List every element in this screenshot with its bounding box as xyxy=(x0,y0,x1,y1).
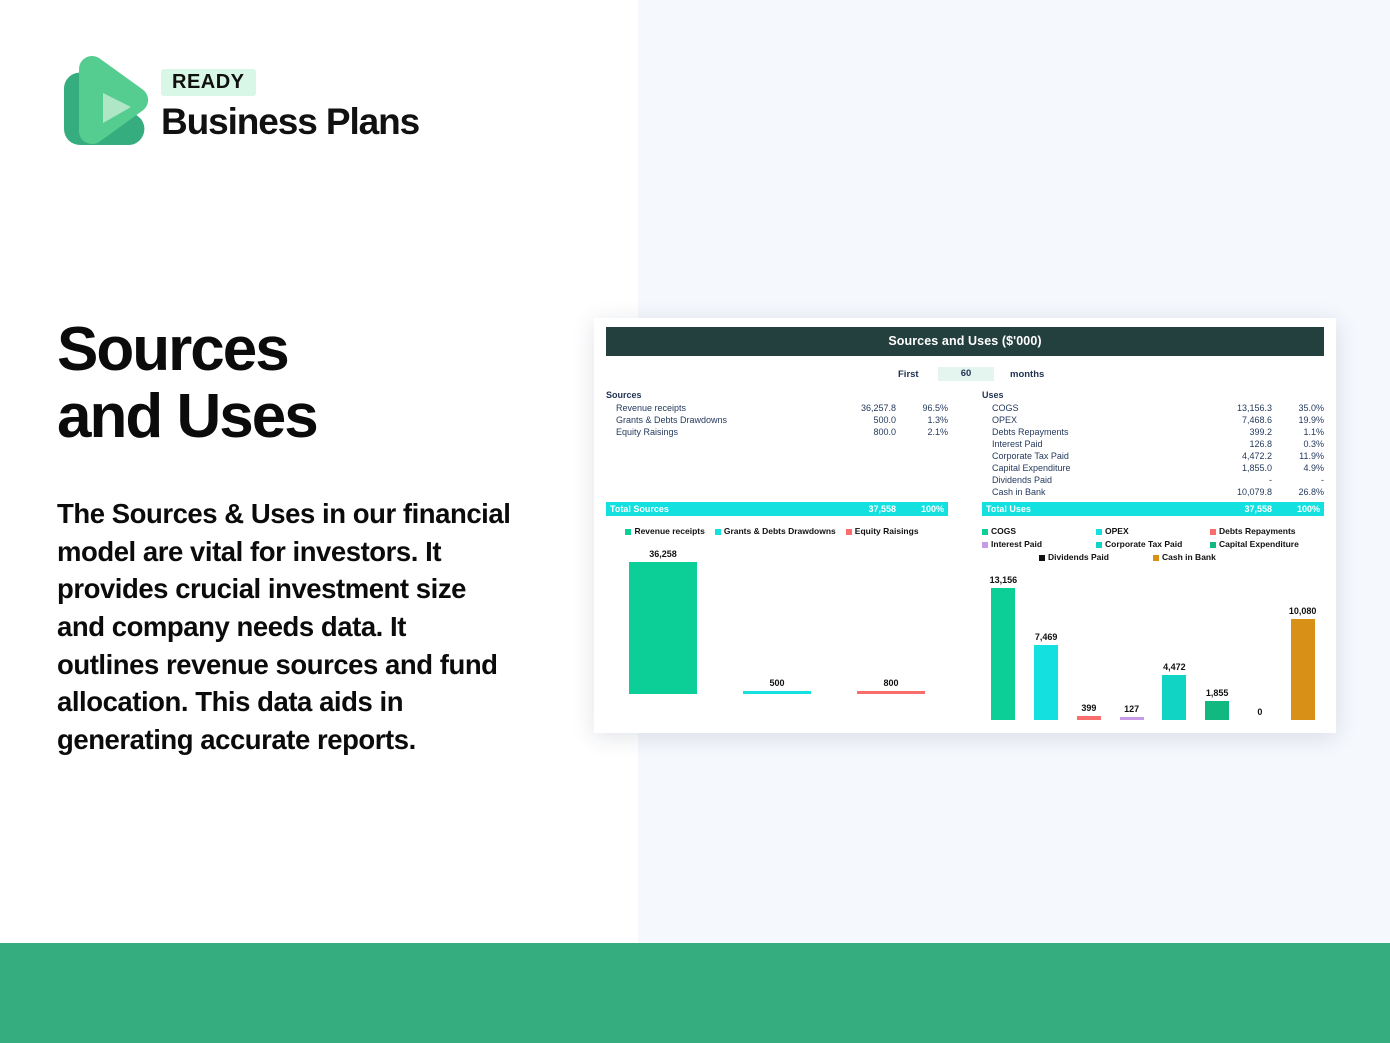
table-row: COGS 13,156.3 35.0% xyxy=(982,402,1324,414)
row-label: Capital Expenditure xyxy=(982,462,1194,474)
legend-swatch-icon xyxy=(982,542,988,548)
legend-item: Cash in Bank xyxy=(1153,551,1267,564)
bar[interactable] xyxy=(991,588,1015,720)
bar-value-label: 1,855 xyxy=(1206,688,1229,698)
page-title-line-1: Sources xyxy=(57,315,288,384)
legend-swatch-icon xyxy=(846,529,852,535)
bar[interactable] xyxy=(743,691,811,694)
bar[interactable] xyxy=(1120,717,1144,720)
brand-logo: READY Business Plans xyxy=(57,55,419,155)
bar-group: 4,472 xyxy=(1162,662,1186,720)
row-percent: 0.3% xyxy=(1272,438,1324,450)
row-value: 4,472.2 xyxy=(1194,450,1272,462)
charts-area: Revenue receiptsGrants & Debts Drawdowns… xyxy=(606,525,1324,720)
table-row: Corporate Tax Paid 4,472.2 11.9% xyxy=(982,450,1324,462)
table-spacer xyxy=(606,462,948,474)
table-row: Interest Paid 126.8 0.3% xyxy=(982,438,1324,450)
brand-name: Business Plans xyxy=(161,102,419,142)
row-label: Grants & Debts Drawdowns xyxy=(606,414,818,426)
row-label: OPEX xyxy=(982,414,1194,426)
row-percent: 19.9% xyxy=(1272,414,1324,426)
bar-group: 10,080 xyxy=(1291,606,1315,720)
legend-label: Debts Repayments xyxy=(1219,525,1296,538)
bar-group: 1,855 xyxy=(1205,688,1229,720)
bar-value-label: 0 xyxy=(1257,707,1262,717)
legend-swatch-icon xyxy=(1039,555,1045,561)
sources-and-uses-tables: Sources Revenue receipts 36,257.8 96.5% … xyxy=(606,390,1324,516)
bar-group: 399 xyxy=(1077,703,1101,720)
bar[interactable] xyxy=(1034,645,1058,720)
row-label: Dividends Paid xyxy=(982,474,1194,486)
legend-swatch-icon xyxy=(625,529,631,535)
row-value: 36,257.8 xyxy=(818,402,896,414)
row-value: 399.2 xyxy=(1194,426,1272,438)
uses-bar-chart: COGSOPEXDebts RepaymentsInterest PaidCor… xyxy=(982,525,1324,720)
row-value: 13,156.3 xyxy=(1194,402,1272,414)
row-label: Cash in Bank xyxy=(982,486,1194,498)
legend-label: Equity Raisings xyxy=(855,525,919,538)
legend-swatch-icon xyxy=(715,529,721,535)
legend-label: Cash in Bank xyxy=(1162,551,1216,564)
row-label: Debts Repayments xyxy=(982,426,1194,438)
legend-label: Interest Paid xyxy=(991,538,1042,551)
uses-chart-legend: COGSOPEXDebts RepaymentsInterest PaidCor… xyxy=(982,525,1324,564)
bar-value-label: 7,469 xyxy=(1035,632,1058,642)
bar[interactable] xyxy=(629,562,697,694)
table-spacer xyxy=(606,450,948,462)
legend-item: Corporate Tax Paid xyxy=(1096,538,1210,551)
legend-label: OPEX xyxy=(1105,525,1129,538)
total-label: Total Sources xyxy=(606,502,818,516)
bar-group: 800 xyxy=(857,678,925,694)
row-percent: 2.1% xyxy=(896,426,948,438)
sources-bar-chart: Revenue receiptsGrants & Debts Drawdowns… xyxy=(606,525,948,720)
legend-swatch-icon xyxy=(1210,529,1216,535)
row-label: Corporate Tax Paid xyxy=(982,450,1194,462)
bar-group: 13,156 xyxy=(991,575,1015,720)
bar-value-label: 13,156 xyxy=(990,575,1018,585)
legend-swatch-icon xyxy=(1096,529,1102,535)
legend-item: Interest Paid xyxy=(982,538,1096,551)
row-percent: 26.8% xyxy=(1272,486,1324,498)
total-label: Total Uses xyxy=(982,502,1194,516)
row-label: Equity Raisings xyxy=(606,426,818,438)
row-value: 800.0 xyxy=(818,426,896,438)
bar-value-label: 36,258 xyxy=(649,549,677,559)
row-value: 500.0 xyxy=(818,414,896,426)
legend-swatch-icon xyxy=(1210,542,1216,548)
legend-label: Revenue receipts xyxy=(634,525,704,538)
table-row: Debts Repayments 399.2 1.1% xyxy=(982,426,1324,438)
bar[interactable] xyxy=(1291,619,1315,720)
uses-chart-plot: 13,1567,4693991274,4721,855010,080 xyxy=(982,570,1324,720)
row-percent: 4.9% xyxy=(1272,462,1324,474)
table-row: Dividends Paid - - xyxy=(982,474,1324,486)
ready-badge: READY xyxy=(161,69,256,96)
period-selector: First months xyxy=(606,367,1324,381)
legend-item: Revenue receipts xyxy=(625,525,704,538)
row-value: 10,079.8 xyxy=(1194,486,1272,498)
legend-label: Grants & Debts Drawdowns xyxy=(724,525,836,538)
table-row: OPEX 7,468.6 19.9% xyxy=(982,414,1324,426)
bar-group: 7,469 xyxy=(1034,632,1058,720)
sources-chart-legend: Revenue receiptsGrants & Debts Drawdowns… xyxy=(606,525,948,538)
legend-item: OPEX xyxy=(1096,525,1210,538)
table-row: Revenue receipts 36,257.8 96.5% xyxy=(606,402,948,414)
bar-value-label: 800 xyxy=(883,678,898,688)
bar[interactable] xyxy=(1205,701,1229,720)
table-row: Equity Raisings 800.0 2.1% xyxy=(606,426,948,438)
sources-table: Sources Revenue receipts 36,257.8 96.5% … xyxy=(606,390,948,516)
page-title: Sources and Uses xyxy=(57,317,597,451)
bar-value-label: 10,080 xyxy=(1289,606,1317,616)
legend-label: Corporate Tax Paid xyxy=(1105,538,1182,551)
legend-swatch-icon xyxy=(1153,555,1159,561)
table-row: Capital Expenditure 1,855.0 4.9% xyxy=(982,462,1324,474)
bar-group: 127 xyxy=(1120,704,1144,720)
uses-total-row: Total Uses 37,558 100% xyxy=(982,502,1324,516)
row-percent: 1.1% xyxy=(1272,426,1324,438)
legend-swatch-icon xyxy=(1096,542,1102,548)
row-value: - xyxy=(1194,474,1272,486)
total-value: 37,558 xyxy=(1194,502,1272,516)
table-row: Cash in Bank 10,079.8 26.8% xyxy=(982,486,1324,498)
period-suffix-label: months xyxy=(1010,369,1044,380)
table-spacer xyxy=(606,486,948,498)
row-label: Interest Paid xyxy=(982,438,1194,450)
play-triangle-logo-icon xyxy=(57,55,150,155)
bar-value-label: 127 xyxy=(1124,704,1139,714)
bar[interactable] xyxy=(1162,675,1186,720)
period-prefix-label: First xyxy=(898,369,938,380)
legend-swatch-icon xyxy=(982,529,988,535)
sheet-title: Sources and Uses ($'000) xyxy=(606,327,1324,356)
footer-band xyxy=(0,943,1390,1043)
legend-label: Capital Expenditure xyxy=(1219,538,1299,551)
row-percent: 35.0% xyxy=(1272,402,1324,414)
row-label: Revenue receipts xyxy=(606,402,818,414)
bar-group: 0 xyxy=(1248,707,1272,720)
row-percent: - xyxy=(1272,474,1324,486)
spreadsheet-card: Sources and Uses ($'000) First months So… xyxy=(594,318,1336,733)
bar[interactable] xyxy=(857,691,925,694)
bar-group: 500 xyxy=(743,678,811,694)
row-percent: 96.5% xyxy=(896,402,948,414)
row-value: 1,855.0 xyxy=(1194,462,1272,474)
bar-group: 36,258 xyxy=(629,549,697,694)
legend-label: COGS xyxy=(991,525,1016,538)
row-value: 7,468.6 xyxy=(1194,414,1272,426)
legend-item: Debts Repayments xyxy=(1210,525,1324,538)
bar-value-label: 399 xyxy=(1081,703,1096,713)
table-row: Grants & Debts Drawdowns 500.0 1.3% xyxy=(606,414,948,426)
bar-value-label: 4,472 xyxy=(1163,662,1186,672)
total-percent: 100% xyxy=(896,502,948,516)
row-label: COGS xyxy=(982,402,1194,414)
sources-total-row: Total Sources 37,558 100% xyxy=(606,502,948,516)
legend-item: COGS xyxy=(982,525,1096,538)
legend-item: Dividends Paid xyxy=(1039,551,1153,564)
legend-item: Equity Raisings xyxy=(846,525,919,538)
table-spacer xyxy=(606,438,948,450)
legend-label: Dividends Paid xyxy=(1048,551,1109,564)
row-value: 126.8 xyxy=(1194,438,1272,450)
total-percent: 100% xyxy=(1272,502,1324,516)
row-percent: 11.9% xyxy=(1272,450,1324,462)
uses-table: Uses COGS 13,156.3 35.0% OPEX 7,468.6 19… xyxy=(982,390,1324,516)
total-value: 37,558 xyxy=(818,502,896,516)
page-description: The Sources & Uses in our financial mode… xyxy=(57,495,512,759)
row-percent: 1.3% xyxy=(896,414,948,426)
table-spacer xyxy=(606,474,948,486)
uses-table-heading: Uses xyxy=(982,390,1324,402)
legend-item: Capital Expenditure xyxy=(1210,538,1324,551)
bar-value-label: 500 xyxy=(769,678,784,688)
sources-chart-plot: 36,258500800 xyxy=(606,544,948,694)
legend-item: Grants & Debts Drawdowns xyxy=(715,525,836,538)
page-title-line-2: and Uses xyxy=(57,382,317,451)
bar[interactable] xyxy=(1077,716,1101,720)
period-months-input[interactable] xyxy=(938,367,994,381)
sources-table-heading: Sources xyxy=(606,390,948,402)
